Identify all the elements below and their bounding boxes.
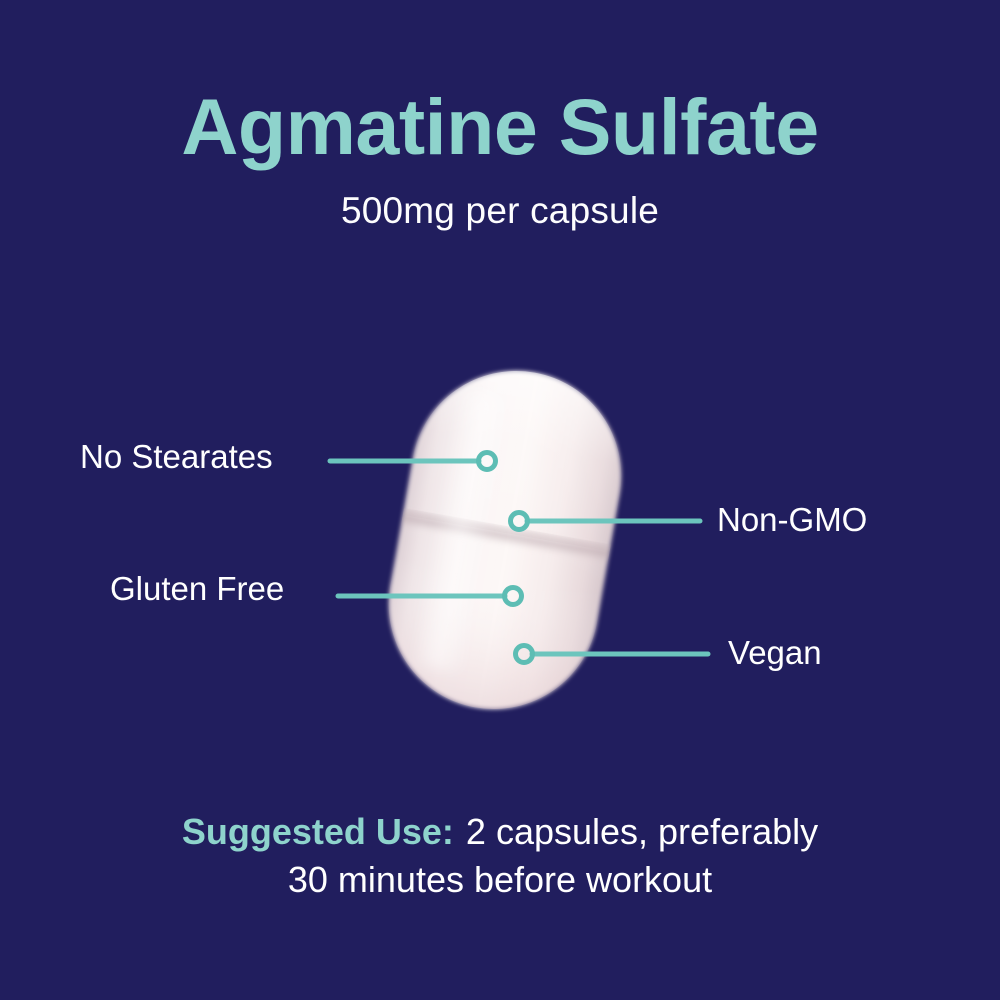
callout-label-no-stearates: No Stearates [80, 440, 273, 473]
callout-connectors [330, 461, 708, 654]
marker-no-stearates [479, 453, 496, 470]
callout-label-non-gmo: Non-GMO [717, 503, 867, 536]
callout-markers [479, 453, 533, 663]
product-subtitle: 500mg per capsule [0, 191, 1000, 232]
suggested-use-text-1: 2 capsules, preferably [466, 811, 818, 852]
product-infographic: Agmatine Sulfate 500mg per capsule [0, 0, 1000, 1000]
marker-vegan [516, 646, 533, 663]
suggested-use-block: Suggested Use:2 capsules, preferably 30 … [0, 808, 1000, 904]
header: Agmatine Sulfate 500mg per capsule [0, 86, 1000, 232]
page-title: Agmatine Sulfate [0, 86, 1000, 169]
suggested-use-line-1: Suggested Use:2 capsules, preferably [0, 808, 1000, 856]
marker-gluten-free [505, 588, 522, 605]
suggested-use-line-2: 30 minutes before workout [0, 856, 1000, 904]
capsule-shape [372, 354, 638, 725]
callout-label-vegan: Vegan [728, 636, 822, 669]
marker-non-gmo [511, 513, 528, 530]
callout-label-gluten-free: Gluten Free [110, 572, 284, 605]
suggested-use-label: Suggested Use: [182, 811, 454, 852]
